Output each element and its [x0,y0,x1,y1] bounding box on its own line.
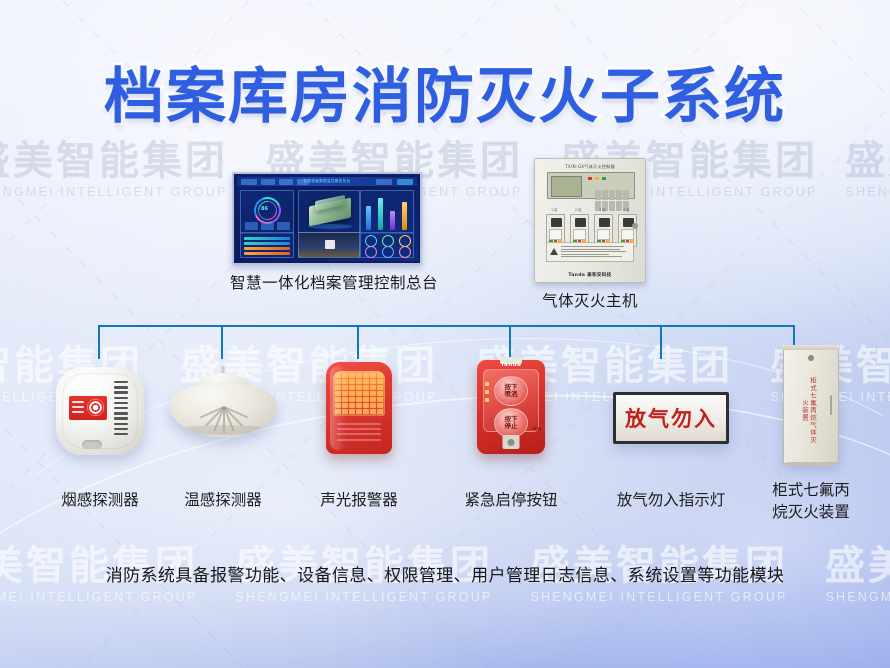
watermark: 盛美智能集团 SHENGMEI INTELLIGENT GROUP [0,140,228,202]
sounder-strobe-icon [326,362,392,454]
dashboard-header-title: 智慧档案数据监控服务总台 [304,179,351,184]
zone-label: 2 区 [575,207,582,212]
panel-model-text: TX/N-GX气体灭火控制器 [535,164,645,170]
panel-brand-label: Tanda 泰和安科技 [535,272,645,278]
device-label: 紧急启停按钮 [464,489,557,511]
zone-label: 3 区 [599,207,606,212]
heat-detector-icon [169,373,277,447]
emergency-button-brand: Tanda [477,362,545,368]
device-extinguisher-cabinet: 柜式七氟丙烷气体灭火装置 柜式七氟丙烷灭火装置 [765,348,857,528]
gas-warning-sign-icon: 放气勿入 [613,392,729,444]
watermark-cn: 盛美智能集团 [845,140,890,182]
fire-control-panel-icon: TX/N-GX气体灭火控制器 1 区 2 区 3 区 4 区 [534,158,646,283]
dashboard-screen-icon: 智慧档案数据监控服务总台 86 [232,172,422,265]
poster-canvas: 盛美智能集团 SHENGMEI INTELLIGENT GROUP 盛美智能集团… [0,0,890,668]
cabinet-text: 柜式七氟丙烷气体灭火装置 [805,374,817,446]
device-label: 放气勿入指示灯 [617,489,726,511]
page-title: 档案库房消防灭火子系统 [0,48,890,135]
watermark-cn: 盛美智能集团 [825,545,890,587]
device-smoke-detector: 烟感探测器 [55,367,145,527]
node-gas-host-label: 气体灭火主机 [520,291,660,312]
device-label: 柜式七氟丙烷灭火装置 [765,479,857,524]
emergency-button-icon: Tanda 按下喷洒 按下停止 [477,360,545,454]
watermark: 盛美智能集团 SHENGMEI INTELLIGENT GROUP [825,545,890,607]
zone-label: 4 区 [623,207,630,212]
sign-text: 放气勿入 [625,403,717,433]
node-console: 智慧档案数据监控服务总台 86 [230,172,424,294]
extinguisher-cabinet-icon: 柜式七氟丙烷气体灭火装置 [783,348,839,464]
device-gas-warning-sign: 放气勿入 放气勿入指示灯 [616,392,726,552]
device-sounder-strobe: 声光报警器 [314,362,404,522]
smoke-detector-icon [56,367,144,455]
device-label: 温感探测器 [184,489,262,511]
zone-label: 1 区 [551,207,558,212]
watermark: 盛美智能集团 SHENGMEI INTELLIGENT GROUP [845,140,890,202]
watermark-cn: 盛美智能集团 [0,140,228,182]
node-gas-host: TX/N-GX气体灭火控制器 1 区 2 区 3 区 4 区 [520,158,660,312]
dashboard-gauge-value: 86 [261,206,268,212]
device-emergency-button: Tanda 按下喷洒 按下停止 紧急启停按钮 [466,360,556,520]
device-label: 烟感探测器 [61,489,139,511]
watermark-en: SHENGMEI INTELLIGENT GROUP [845,182,890,202]
watermark-en: SHENGMEI INTELLIGENT GROUP [0,182,228,202]
device-heat-detector: 温感探测器 [178,373,268,533]
device-label: 声光报警器 [320,489,398,511]
watermark-en: SHENGMEI INTELLIGENT GROUP [825,587,890,607]
node-console-label: 智慧一体化档案管理控制总台 [230,273,424,294]
summary-text: 消防系统具备报警功能、设备信息、权限管理、用户管理日志信息、系统设置等功能模块 [95,562,795,591]
